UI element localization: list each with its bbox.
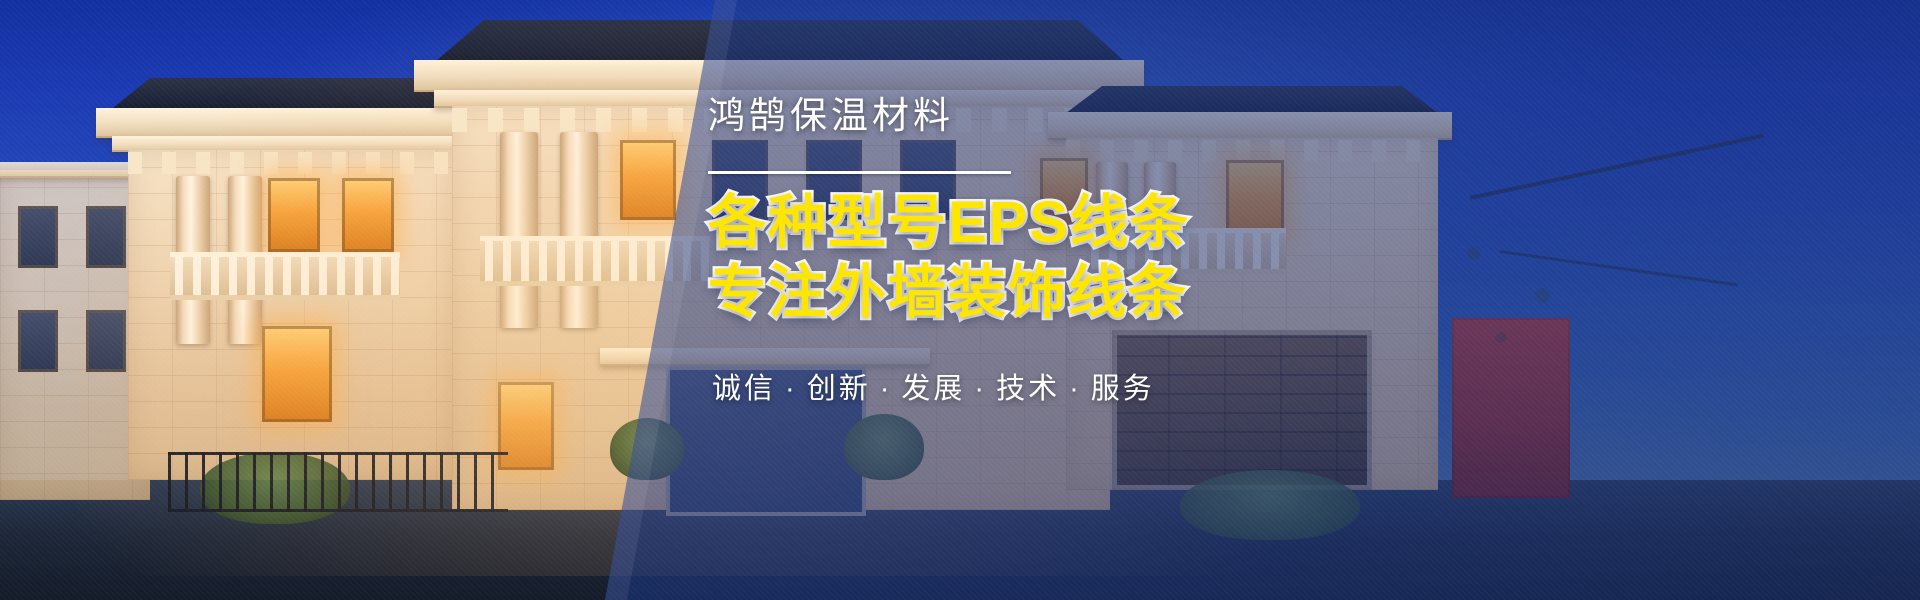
headline-line-2: 专注外墙装饰线条	[708, 258, 1348, 329]
column-center-1	[500, 132, 538, 328]
tagline-item-1: 诚信	[712, 373, 776, 405]
tagline-sep-1: ·	[785, 373, 798, 405]
tagline-item-5: 服务	[1091, 373, 1155, 405]
front-fence	[168, 452, 508, 512]
brand-name: 鸿鹄保温材料	[708, 96, 1348, 137]
window-left-lower-1	[262, 326, 332, 422]
balustrade-left	[170, 252, 400, 300]
window-left-upper-1	[268, 178, 320, 252]
headline-line-1: 各种型号EPS线条	[708, 188, 1348, 259]
hero-banner: 鸿鹄保温材料 各种型号EPS线条 专注外墙装饰线条 诚信·创新·发展·技术·服务	[0, 0, 1920, 600]
distant-window-2	[86, 206, 126, 268]
tagline-sep-4: ·	[1069, 373, 1082, 405]
window-center-upper-1	[620, 140, 676, 220]
left-wing-dentils	[128, 152, 452, 174]
tagline-sep-3: ·	[974, 373, 987, 405]
divider-rule	[708, 171, 1011, 174]
tagline-sep-2: ·	[880, 373, 893, 405]
distant-window-3	[18, 310, 58, 372]
distant-window-4	[86, 310, 126, 372]
tagline-item-3: 发展	[901, 373, 965, 405]
tagline-item-2: 创新	[807, 373, 871, 405]
left-wing-cornice	[96, 108, 482, 138]
column-center-2	[560, 132, 598, 328]
headline: 各种型号EPS线条 专注外墙装饰线条	[708, 188, 1348, 330]
tagline-item-4: 技术	[996, 373, 1060, 405]
marketing-copy: 鸿鹄保温材料 各种型号EPS线条 专注外墙装饰线条 诚信·创新·发展·技术·服务	[708, 96, 1348, 407]
tagline: 诚信·创新·发展·技术·服务	[712, 365, 1348, 407]
distant-window-1	[18, 206, 58, 268]
window-left-upper-2	[342, 178, 394, 252]
